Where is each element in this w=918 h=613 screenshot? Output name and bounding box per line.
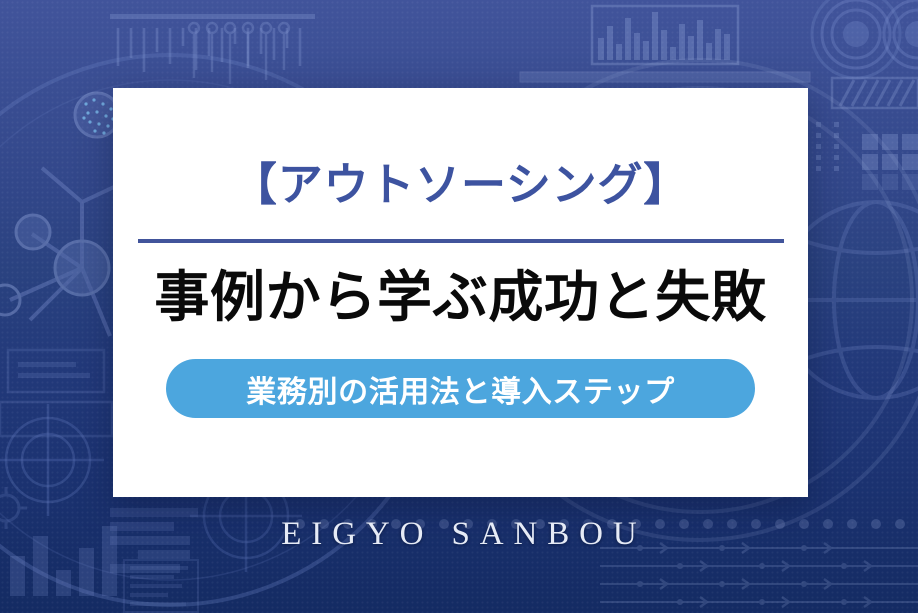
eyecatch-canvas: 【アウトソーシング】 事例から学ぶ成功と失敗 業務別の活用法と導入ステップ EI… — [0, 0, 918, 613]
title-divider — [138, 239, 784, 243]
category-kicker: 【アウトソーシング】 — [232, 162, 689, 207]
brand-wordmark: EIGYO SANBOU — [0, 516, 918, 553]
content-card: 【アウトソーシング】 事例から学ぶ成功と失敗 業務別の活用法と導入ステップ — [113, 88, 808, 497]
subtitle-badge: 業務別の活用法と導入ステップ — [166, 359, 755, 418]
page-title: 事例から学ぶ成功と失敗 — [154, 270, 766, 325]
